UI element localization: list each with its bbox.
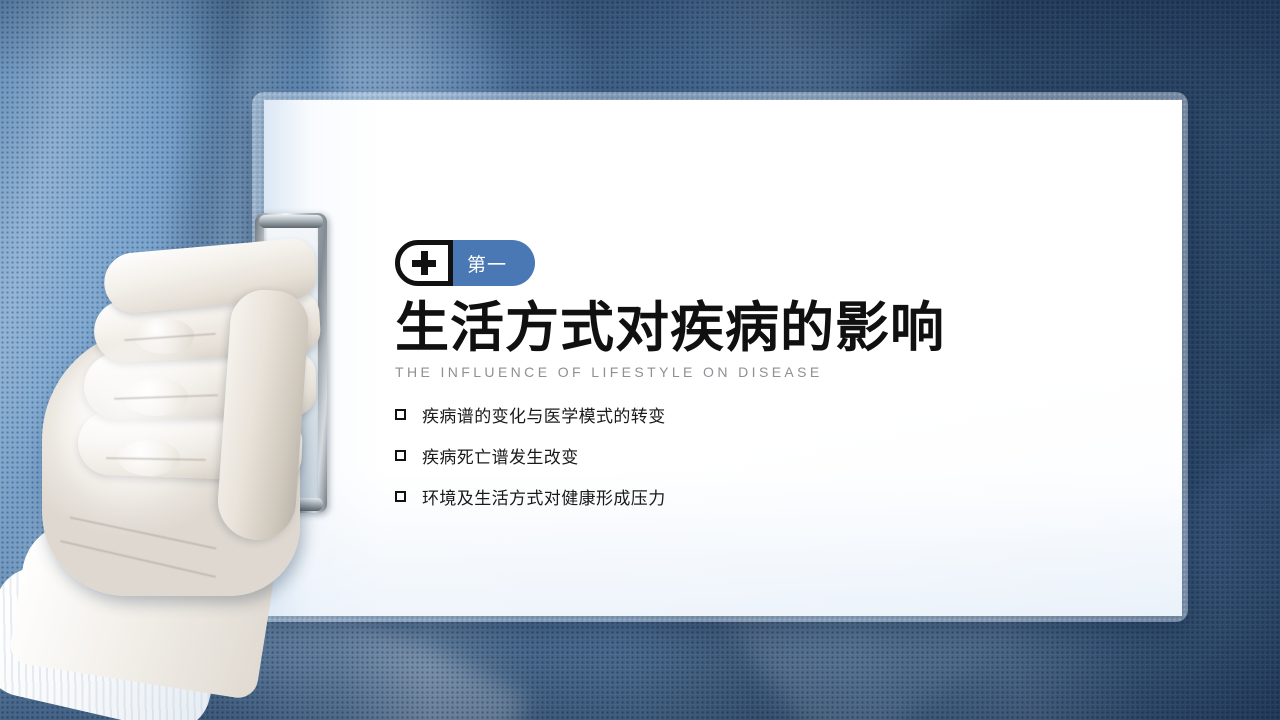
square-bullet-icon <box>395 491 406 502</box>
section-badge-label: 第一 <box>453 240 535 286</box>
plus-vertical-bar <box>421 251 428 275</box>
section-badge[interactable]: 第一 <box>395 240 1115 286</box>
page-subtitle: THE INFLUENCE OF LIFESTYLE ON DISEASE <box>395 364 1115 380</box>
list-item[interactable]: 环境及生活方式对健康形成压力 <box>395 484 1115 509</box>
clip-bar-top <box>259 215 323 228</box>
square-bullet-icon <box>395 409 406 420</box>
presentation-slide: 第一 生活方式对疾病的影响 THE INFLUENCE OF LIFESTYLE… <box>0 0 1280 720</box>
list-item[interactable]: 疾病谱的变化与医学模式的转变 <box>395 402 1115 427</box>
square-bullet-icon <box>395 450 406 461</box>
list-item-label: 环境及生活方式对健康形成压力 <box>422 484 666 509</box>
gloved-hand <box>28 232 358 652</box>
page-title: 生活方式对疾病的影响 <box>395 300 1115 355</box>
glove-highlight <box>58 342 228 522</box>
list-item[interactable]: 疾病死亡谱发生改变 <box>395 443 1115 468</box>
slide-content: 第一 生活方式对疾病的影响 THE INFLUENCE OF LIFESTYLE… <box>395 240 1115 525</box>
list-item-label: 疾病谱的变化与医学模式的转变 <box>422 402 666 427</box>
medical-plus-icon <box>395 240 453 286</box>
bullet-list: 疾病谱的变化与医学模式的转变 疾病死亡谱发生改变 环境及生活方式对健康形成压力 <box>395 402 1115 509</box>
list-item-label: 疾病死亡谱发生改变 <box>422 443 579 468</box>
